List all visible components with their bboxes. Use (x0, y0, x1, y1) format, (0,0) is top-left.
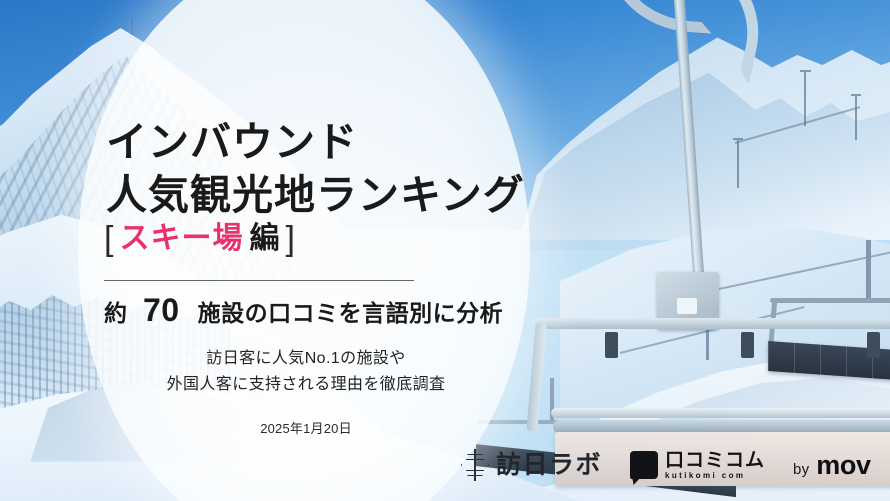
kuchikomi-name: 口コミコム (665, 451, 765, 470)
category-highlight: スキー場 (119, 224, 243, 254)
count-suffix: 施設の口コミを言語別に分析 (198, 294, 504, 328)
by-mov-logo[interactable]: by mov (793, 450, 871, 481)
bar-clip (867, 332, 880, 358)
category-label: [ スキー場 編 ] (104, 222, 295, 256)
safety-bar (535, 318, 890, 329)
lead-paragraph: 訪日客に人気No.1の施設や 外国人客に支持される理由を徹底調査 (96, 346, 516, 398)
kuchikomi-wordmark: 口コミコム kutikomi com (665, 451, 765, 480)
logo-bar: 訪日ラボ 口コミコム kutikomi com by mov (460, 441, 880, 489)
bar-clip (741, 332, 754, 358)
foreground-chairlift (545, 0, 890, 400)
bracket-open-icon: [ (104, 222, 113, 256)
page-title: インバウンド 人気観光地ランキング (106, 116, 526, 223)
publish-date: 2025年1月20日 (96, 418, 516, 437)
bar-clip (605, 332, 618, 358)
facility-count-line: 約 70 施設の口コミを言語別に分析 (104, 292, 503, 329)
by-label: by (793, 461, 809, 478)
category-suffix: 編 (249, 224, 279, 254)
honichi-lab-wordmark: 訪日ラボ (496, 453, 602, 478)
hanger-hub-window (677, 298, 697, 314)
speech-bubble-icon (630, 451, 658, 479)
kuchikomi-com-logo[interactable]: 口コミコム kutikomi com (630, 451, 765, 480)
hexagon-signpost-icon (460, 449, 490, 481)
backrest (551, 408, 890, 418)
bracket-close-icon: ] (285, 222, 294, 256)
count-prefix: 約 (104, 294, 127, 328)
divider-rule (104, 280, 414, 281)
count-number: 70 (143, 292, 180, 329)
text-content: インバウンド 人気観光地ランキング [ スキー場 編 ] 約 70 施設の口コミ… (96, 0, 516, 501)
hanger-curve-upper (622, 0, 774, 84)
mov-wordmark: mov (816, 450, 870, 481)
kuchikomi-domain: kutikomi com (665, 472, 765, 480)
honichi-lab-logo[interactable]: 訪日ラボ (460, 449, 602, 481)
poster-canvas: インバウンド 人気観光地ランキング [ スキー場 編 ] 約 70 施設の口コミ… (0, 0, 890, 501)
